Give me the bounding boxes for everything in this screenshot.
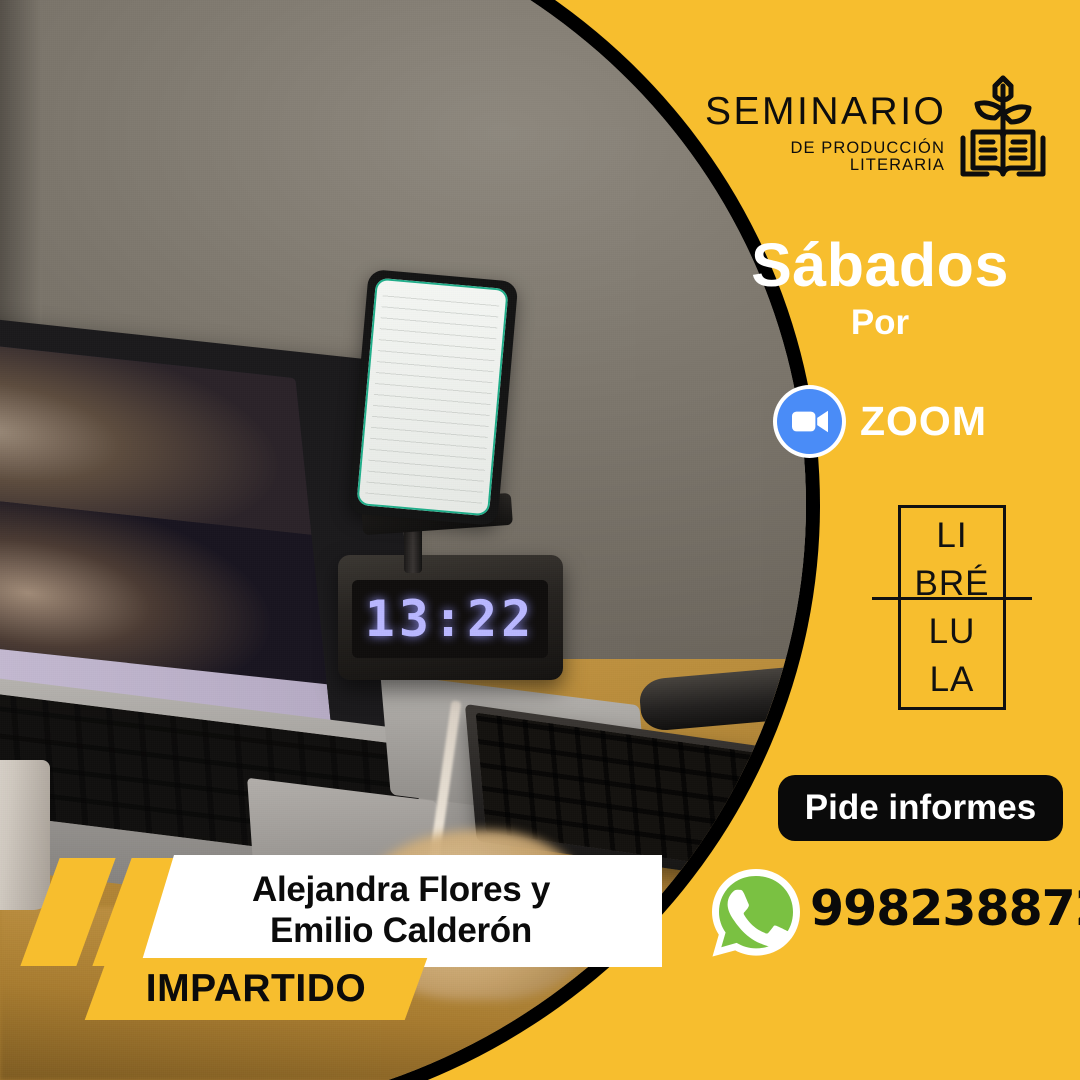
librelula-line-3: LU xyxy=(929,614,976,649)
instructor-name-line-1: Alejandra Flores y xyxy=(252,870,550,911)
clock-time-text: 13:22 xyxy=(352,580,548,658)
schedule-preposition: Por xyxy=(700,303,1060,343)
librelula-line-1: LI xyxy=(936,518,967,553)
smartphone-text-lines xyxy=(365,290,499,503)
laptop-screen xyxy=(0,326,332,734)
coffee-mug xyxy=(0,760,50,910)
seminar-title: SEMINARIO xyxy=(705,92,945,131)
librelula-publisher-logo: LI BRÉ LU LA xyxy=(872,505,1032,710)
seminar-logo-text: SEMINARIO DE PRODUCCIÓN LITERARIA xyxy=(705,92,945,173)
digital-clock-display: 13:22 xyxy=(352,580,548,658)
book-with-flower-icon xyxy=(955,70,1051,182)
pide-informes-button[interactable]: Pide informes xyxy=(778,775,1063,841)
librelula-letters: LI BRÉ LU LA xyxy=(898,505,1006,710)
librelula-line-2: BRÉ xyxy=(915,566,990,601)
whatsapp-icon[interactable] xyxy=(706,863,806,963)
librelula-line-4: LA xyxy=(930,662,975,697)
impartido-label: IMPARTIDO xyxy=(96,958,416,1020)
whatsapp-phone-number[interactable]: 9982388728 xyxy=(810,880,1080,937)
zoom-platform-row: ZOOM xyxy=(700,385,1060,458)
whatsapp-contact-row[interactable]: 9982388728 xyxy=(700,858,1070,968)
seminar-subtitle: DE PRODUCCIÓN LITERARIA xyxy=(705,140,945,173)
schedule-day: Sábados xyxy=(700,230,1060,300)
seminar-logo: SEMINARIO DE PRODUCCIÓN LITERARIA xyxy=(705,70,1050,185)
smartphone-screen xyxy=(356,278,508,517)
poster-canvas: 13:22 SEMINARIO DE PRODUCCIÓN LITERARIA xyxy=(0,0,1080,1080)
instructor-name-line-2: Emilio Calderón xyxy=(270,911,532,952)
zoom-video-camera-icon xyxy=(777,389,842,454)
instructors-banner: Alejandra Flores y Emilio Calderón xyxy=(140,855,662,967)
zoom-icon-badge xyxy=(773,385,846,458)
zoom-platform-label: ZOOM xyxy=(860,398,987,445)
